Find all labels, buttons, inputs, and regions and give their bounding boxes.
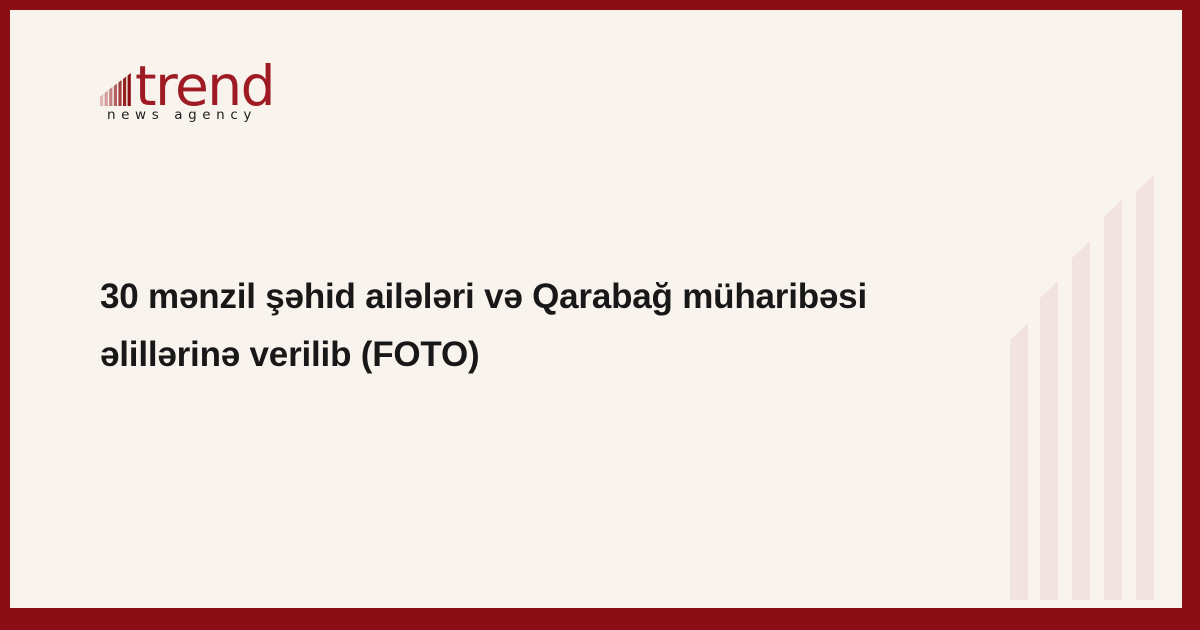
ascending-bars-watermark-icon xyxy=(1010,175,1165,600)
ascending-bars-icon xyxy=(100,56,134,106)
page-title: 30 mənzil şəhid ailələri və Qarabağ müha… xyxy=(100,268,980,384)
logo-wordmark: trend xyxy=(135,62,274,110)
card-canvas: trend news agency 30 mənzil şəhid ailələ… xyxy=(10,10,1182,608)
logo-row: trend xyxy=(100,48,300,106)
trend-logo[interactable]: trend news agency xyxy=(100,48,300,140)
trend-news-share-card: trend news agency 30 mənzil şəhid ailələ… xyxy=(0,0,1200,630)
